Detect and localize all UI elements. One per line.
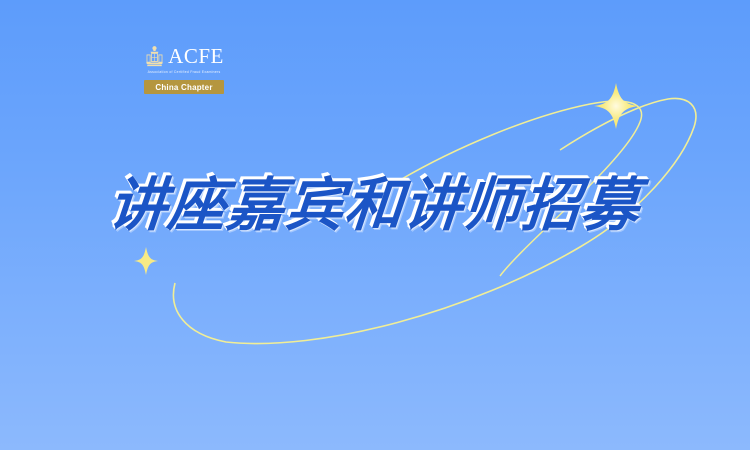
acfe-logo-block: ACFE Association of Certified Fraud Exam…: [136, 44, 232, 94]
acfe-tagline: Association of Certified Fraud Examiners: [135, 70, 233, 74]
acfe-wordmark: ACFE: [168, 46, 224, 67]
sparkle-small-left: [134, 247, 158, 275]
decorative-swoosh-layer: [0, 0, 750, 450]
headline-text: 讲座嘉宾和讲师招募: [107, 176, 643, 234]
china-chapter-badge-label: China Chapter: [155, 83, 212, 92]
acfe-recruitment-banner: ACFE Association of Certified Fraud Exam…: [0, 0, 750, 450]
swoosh-upper-arc: [400, 101, 642, 276]
headline: 讲座嘉宾和讲师招募: [0, 176, 750, 234]
acfe-logo-wordrow: ACFE: [136, 44, 232, 68]
china-chapter-badge: China Chapter: [144, 80, 224, 94]
swoosh-lower-arc: [173, 98, 695, 343]
sparkle-large-top-right: [594, 83, 638, 129]
acfe-crest-icon: [144, 45, 165, 68]
